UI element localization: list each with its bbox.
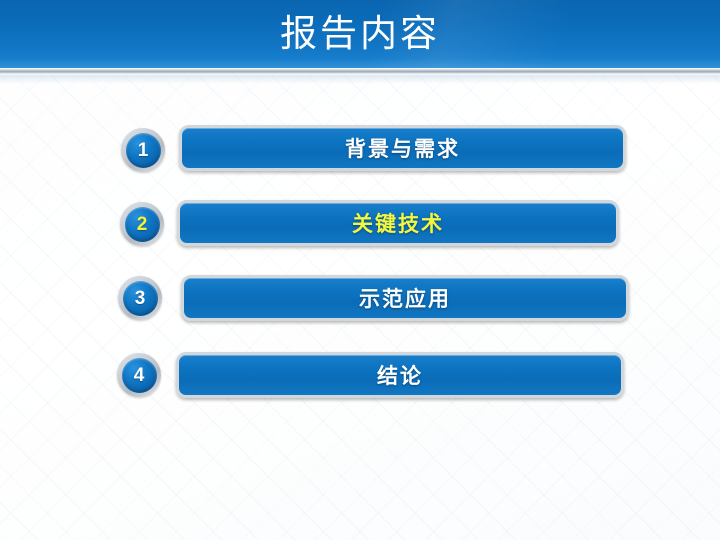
- agenda-number-badge[interactable]: 3: [118, 276, 162, 320]
- agenda-item-bar[interactable]: 背景与需求: [179, 125, 626, 171]
- agenda-number-label: 3: [123, 281, 158, 316]
- agenda-number-label: 4: [122, 358, 157, 393]
- agenda-item-bar[interactable]: 结论: [176, 352, 624, 398]
- agenda-item-label: 结论: [377, 360, 423, 390]
- agenda-number-badge[interactable]: 1: [121, 128, 165, 172]
- agenda-list: 1背景与需求2关键技术3示范应用4结论: [0, 0, 720, 540]
- agenda-number-badge[interactable]: 4: [117, 353, 161, 397]
- slide-canvas: 报告内容 1背景与需求2关键技术3示范应用4结论: [0, 0, 720, 540]
- agenda-item-label: 背景与需求: [345, 133, 460, 163]
- agenda-item-bar[interactable]: 示范应用: [181, 275, 629, 321]
- agenda-number-badge[interactable]: 2: [120, 202, 164, 246]
- agenda-item-label: 关键技术: [352, 208, 444, 238]
- agenda-item-bar[interactable]: 关键技术: [177, 200, 619, 246]
- agenda-number-label: 1: [126, 133, 161, 168]
- agenda-number-label: 2: [125, 207, 160, 242]
- agenda-item-label: 示范应用: [359, 283, 451, 313]
